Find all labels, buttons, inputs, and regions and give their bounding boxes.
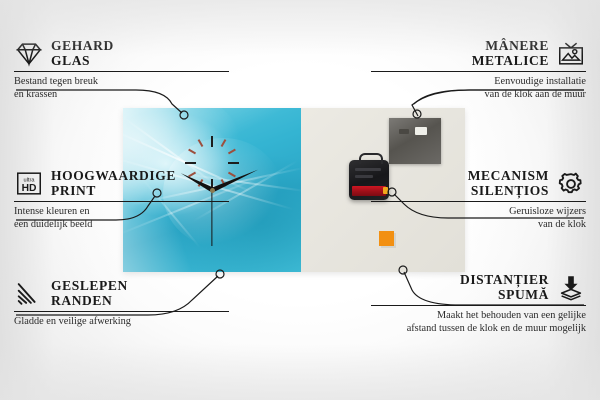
feature-desc-line1: Eenvoudige installatie <box>371 76 586 88</box>
feature-header: MECANISM SILENȚIOS <box>371 168 586 198</box>
feature-geslepen-randen: GESLEPEN RANDEN Gladde en veilige afwerk… <box>14 278 229 329</box>
feature-description: Gladde en veilige afwerking <box>14 316 229 328</box>
feature-divider <box>14 201 229 202</box>
feature-title-line1: GESLEPEN <box>51 278 128 293</box>
feature-header: DISTANȚIER SPUMĂ <box>371 272 586 302</box>
feature-desc-line2: een duidelijk beeld <box>14 219 229 231</box>
diamond-icon <box>14 40 44 67</box>
feature-mecanism-silentios: MECANISM SILENȚIOS Geruisloze wijzers va… <box>371 168 586 231</box>
feature-divider <box>14 311 229 312</box>
feature-gehard-glas: GEHARD GLAS Bestand tegen breuk en krass… <box>14 38 229 101</box>
feature-desc-line1: Bestand tegen breuk <box>14 76 229 88</box>
feature-desc-line2: van de klok <box>371 219 586 231</box>
feature-distantier-spuma: DISTANȚIER SPUMĂ Maakt het behouden van … <box>371 272 586 335</box>
feature-title-line2: SILENȚIOS <box>468 183 549 198</box>
feature-divider <box>371 201 586 202</box>
feature-title-line1: GEHARD <box>51 38 114 53</box>
feature-manere-metalice: MÂNERE METALICE Eenvoudige installatie v… <box>371 38 586 101</box>
feature-title: HOOGWAARDIGE PRINT <box>51 168 176 198</box>
feature-header: ultra HD HOOGWAARDIGE PRINT <box>14 168 229 198</box>
feature-title-line1: HOOGWAARDIGE <box>51 168 176 183</box>
bevel-lines-icon <box>14 280 44 307</box>
feature-header: MÂNERE METALICE <box>371 38 586 68</box>
feature-desc-line2: afstand tussen de klok en de muur mogeli… <box>371 323 586 335</box>
feature-title: MECANISM SILENȚIOS <box>468 168 549 198</box>
picture-hanger-icon <box>556 40 586 67</box>
feature-title: DISTANȚIER SPUMĂ <box>460 272 549 302</box>
feature-description: Geruisloze wijzers van de klok <box>371 206 586 231</box>
gear-icon <box>556 170 586 197</box>
feature-desc-line1: Intense kleuren en <box>14 206 229 218</box>
feature-title-line1: MECANISM <box>468 168 549 183</box>
feature-title-line1: DISTANȚIER <box>460 272 549 287</box>
infographic-canvas: GEHARD GLAS Bestand tegen breuk en krass… <box>0 0 600 400</box>
feature-description: Intense kleuren en een duidelijk beeld <box>14 206 229 231</box>
feature-divider <box>371 305 586 306</box>
feature-hoogwaardige-print: ultra HD HOOGWAARDIGE PRINT Intense kleu… <box>14 168 229 231</box>
feature-title-line2: RANDEN <box>51 293 128 308</box>
ultra-hd-icon-bottom: HD <box>22 183 37 194</box>
feature-header: GEHARD GLAS <box>14 38 229 68</box>
feature-description: Bestand tegen breuk en krassen <box>14 76 229 101</box>
feature-title-line2: GLAS <box>51 53 114 68</box>
feature-divider <box>14 71 229 72</box>
feature-title-line1: MÂNERE <box>472 38 549 53</box>
feature-title: GESLEPEN RANDEN <box>51 278 128 308</box>
feature-title: GEHARD GLAS <box>51 38 114 68</box>
feature-description: Eenvoudige installatie van de klok aan d… <box>371 76 586 101</box>
feature-desc-line1: Gladde en veilige afwerking <box>14 316 229 328</box>
ultra-hd-icon: ultra HD <box>14 170 44 197</box>
feature-description: Maakt het behouden van een gelijke afsta… <box>371 310 586 335</box>
feature-desc-line1: Maakt het behouden van een gelijke <box>371 310 586 322</box>
feature-desc-line1: Geruisloze wijzers <box>371 206 586 218</box>
feature-header: GESLEPEN RANDEN <box>14 278 229 308</box>
feature-title-line2: SPUMĂ <box>460 287 549 302</box>
feature-desc-line2: van de klok aan de muur <box>371 89 586 101</box>
feature-desc-line2: en krassen <box>14 89 229 101</box>
feature-title-line2: METALICE <box>472 53 549 68</box>
feature-title-line2: PRINT <box>51 183 176 198</box>
feature-title: MÂNERE METALICE <box>472 38 549 68</box>
feature-divider <box>371 71 586 72</box>
press-down-layers-icon <box>556 274 586 301</box>
